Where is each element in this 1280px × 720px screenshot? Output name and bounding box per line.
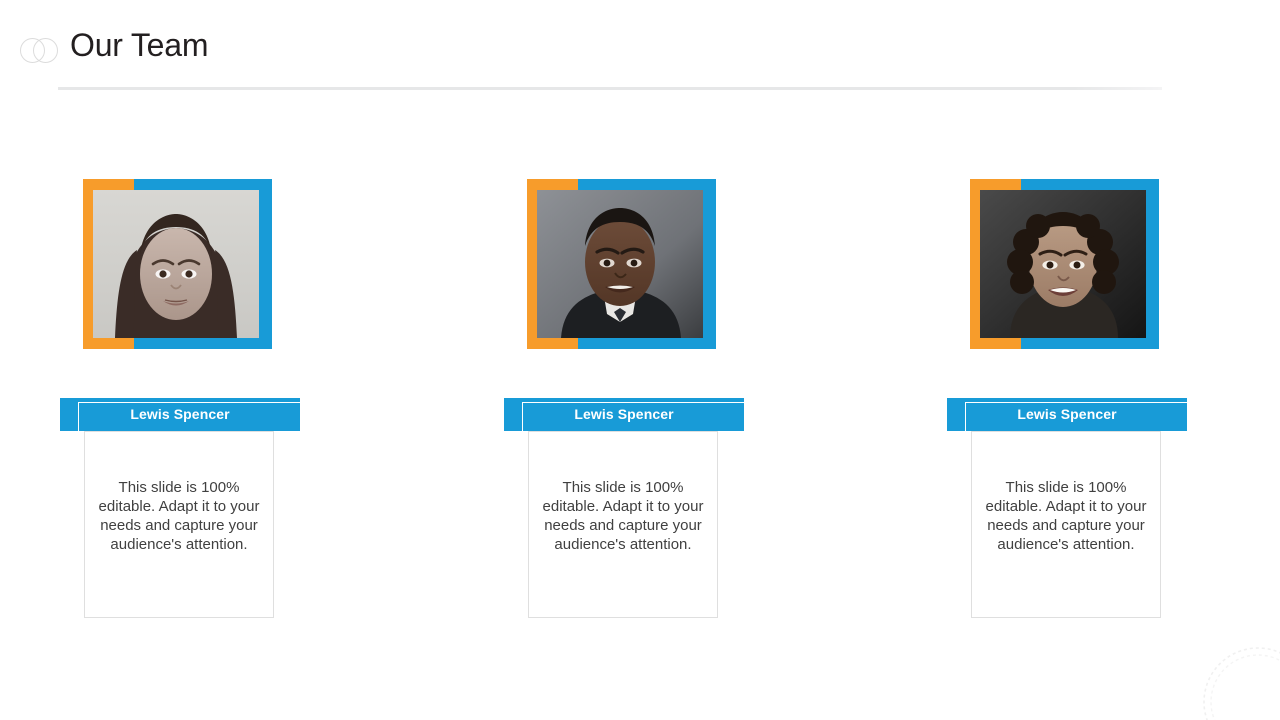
member-name: Lewis Spencer bbox=[504, 398, 744, 431]
member-photo-frame bbox=[83, 179, 272, 349]
member-description: This slide is 100% editable. Adapt it to… bbox=[93, 478, 265, 554]
member-description-box: This slide is 100% editable. Adapt it to… bbox=[528, 431, 718, 618]
member-name-banner: Lewis Spencer bbox=[947, 398, 1187, 431]
team-card-grid: Lewis Spencer This slide is 100% editabl… bbox=[0, 0, 1280, 720]
member-description-box: This slide is 100% editable. Adapt it to… bbox=[971, 431, 1161, 618]
member-photo bbox=[93, 190, 259, 338]
member-name: Lewis Spencer bbox=[60, 398, 300, 431]
member-description: This slide is 100% editable. Adapt it to… bbox=[537, 478, 709, 554]
member-name-banner: Lewis Spencer bbox=[60, 398, 300, 431]
member-description: This slide is 100% editable. Adapt it to… bbox=[980, 478, 1152, 554]
member-name: Lewis Spencer bbox=[947, 398, 1187, 431]
member-photo bbox=[537, 190, 703, 338]
member-photo-frame bbox=[527, 179, 716, 349]
member-photo-frame bbox=[970, 179, 1159, 349]
member-photo bbox=[980, 190, 1146, 338]
member-description-box: This slide is 100% editable. Adapt it to… bbox=[84, 431, 274, 618]
member-name-banner: Lewis Spencer bbox=[504, 398, 744, 431]
